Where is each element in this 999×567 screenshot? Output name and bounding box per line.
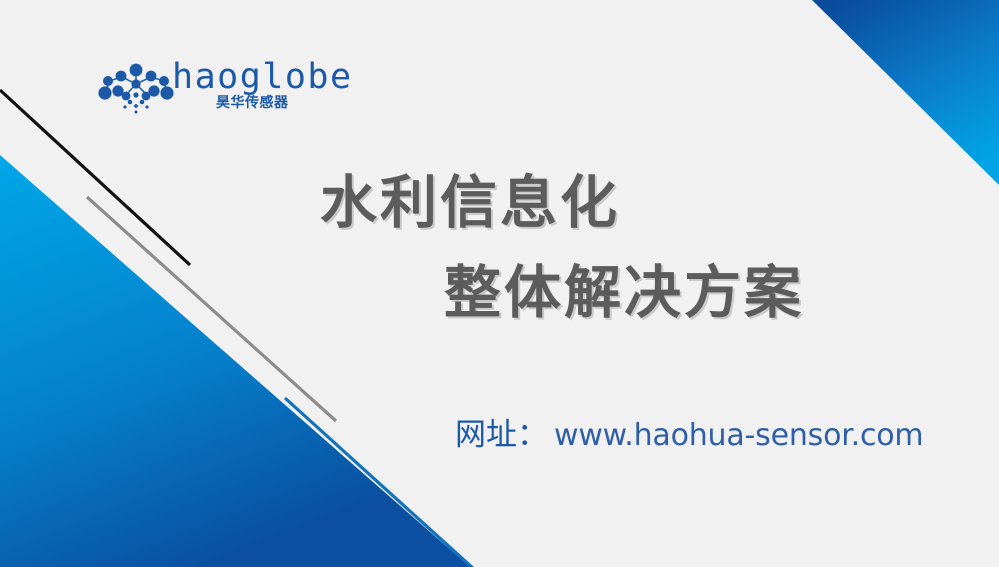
top-right-blue-triangle [812,0,999,185]
website-label: 网址： [455,417,548,453]
logo-brand-name: haoglobe [172,60,353,95]
slide-title-line-2: 整体解决方案 [444,265,804,322]
haoglobe-network-dots-icon [96,62,176,117]
website-line: 网址：www.haohua-sensor.com [455,420,923,451]
website-url[interactable]: www.haohua-sensor.com [554,418,923,453]
presentation-slide: haoglobe 昊华传感器 水利信息化 整体解决方案 网址：www.haohu… [0,0,999,567]
logo-wordmark: haoglobe 昊华传感器 [172,58,322,120]
slide-title-line-1: 水利信息化 [320,175,620,232]
logo-company-chinese: 昊华传感器 [216,96,289,110]
company-logo: haoglobe 昊华传感器 [96,58,316,120]
